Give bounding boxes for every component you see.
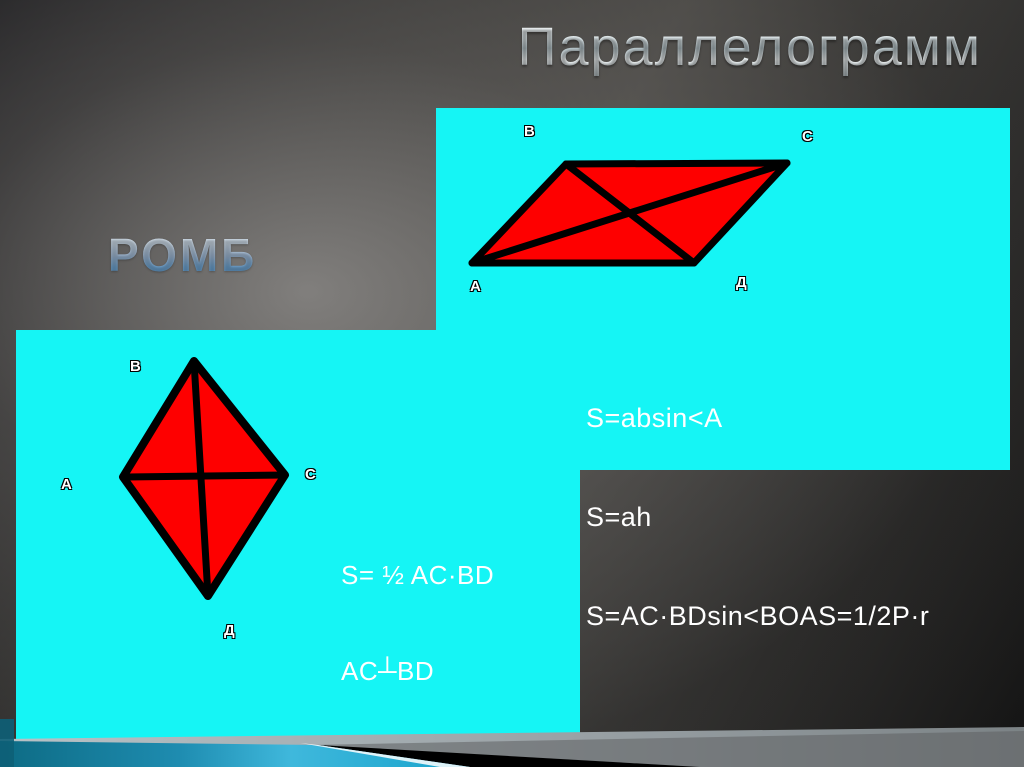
rhombus-figure <box>16 330 580 745</box>
rhombus-panel: В А С Д S= ½ AC·BD AC┴BD <box>16 330 580 745</box>
presentation-slide: Параллелограмм РОМБ В С А Д S=absin<A S=… <box>0 0 1024 767</box>
page-title: Параллелограмм <box>518 16 982 78</box>
footer-left-edge <box>0 719 14 767</box>
parallelogram-vertex-label-b: В <box>524 123 535 140</box>
parallelogram-vertex-label-c: С <box>802 128 813 145</box>
rhombus-vertex-label-b: В <box>130 358 141 375</box>
rhombus-vertex-label-d: Д <box>224 622 235 639</box>
rhombus-formula-line-1: S= ½ AC·BD <box>341 560 494 592</box>
rhombus-vertex-label-a: А <box>61 476 72 493</box>
parallelogram-formula-line-2: S=ah <box>586 501 929 534</box>
footer-decoration <box>0 719 1024 767</box>
rhombus-formula-block: S= ½ AC·BD AC┴BD <box>341 497 494 751</box>
parallelogram-formula-block: S=absin<A S=ah S=AC·BDsin<BOAS=1/2P·r <box>586 336 929 698</box>
parallelogram-formula-line-3: S=AC·BDsin<BOAS=1/2P·r <box>586 600 929 633</box>
parallelogram-vertex-label-a: А <box>470 278 481 295</box>
parallelogram-vertex-label-d: Д <box>736 274 747 291</box>
section-heading-rhombus: РОМБ <box>108 228 257 282</box>
rhombus-formula-line-2: AC┴BD <box>341 656 494 688</box>
rhombus-vertex-label-c: С <box>305 466 316 483</box>
parallelogram-formula-line-1: S=absin<A <box>586 402 929 435</box>
